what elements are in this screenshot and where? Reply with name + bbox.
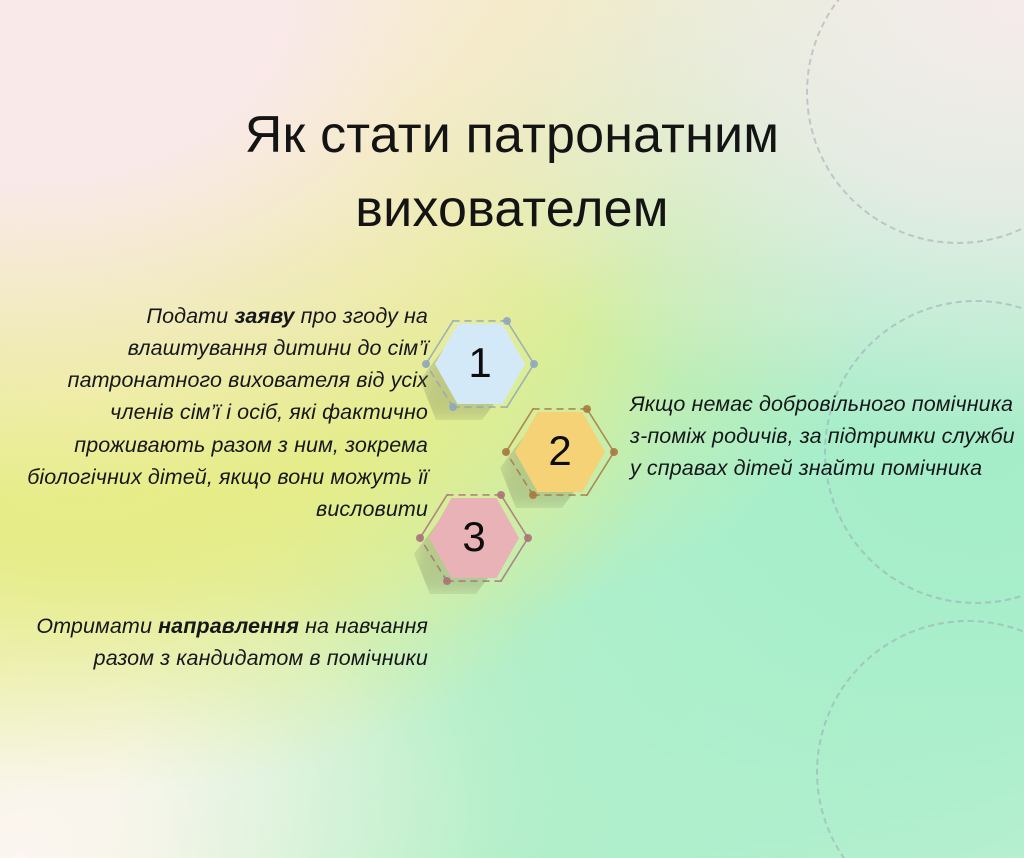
step-3-description: Отримати направлення на навчання разом з… [22,610,428,675]
dashed-circle-decoration-bottom-right [816,620,1024,858]
page-title: Як стати патронатним вихователем [0,99,1024,247]
step-3-number: 3 [462,516,485,558]
step-2-number: 2 [548,430,571,472]
step-1-number: 1 [468,342,491,384]
step-1-text-before: Подати [146,304,234,328]
infographic-poster: Як стати патронатним вихователем Подати … [0,0,1024,858]
step-1-description: Подати заяву про згоду на влаштування ди… [14,300,428,526]
step-3-text-before: Отримати [36,614,158,638]
step-1-keyword: заяву [234,304,294,328]
step-1-text-after: про згоду на влаштування дитини до сім’ї… [27,304,428,522]
step-2-description: Якщо немає добровільного помічника з-пом… [630,388,1016,485]
step-2-text: Якщо немає добровільного помічника з-пом… [630,392,1015,481]
step-3-keyword: направлення [158,614,299,638]
step-hexagon-cluster: 1 2 3 [404,296,620,596]
step-3-hexagon: 3 [414,478,534,598]
